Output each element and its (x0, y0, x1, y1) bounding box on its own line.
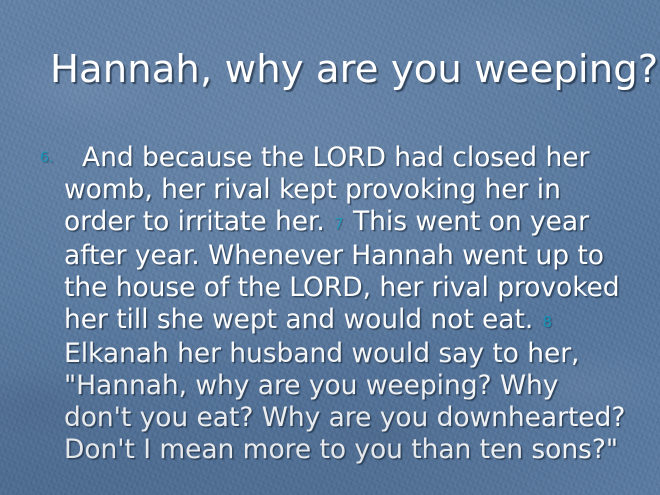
slide-body: 6. And because the LORD had closed her w… (34, 142, 630, 466)
verse-number: 7 (333, 215, 345, 233)
bullet-marker: 6. (34, 142, 64, 174)
list-item: 6. And because the LORD had closed her w… (34, 142, 630, 466)
presentation-slide: Hannah, why are you weeping? 6. And beca… (0, 0, 660, 495)
slide-title: Hannah, why are you weeping? (50, 47, 634, 93)
verse-number: 8 (542, 313, 554, 331)
scripture-passage-text: And because the LORD had closed her womb… (64, 142, 630, 466)
